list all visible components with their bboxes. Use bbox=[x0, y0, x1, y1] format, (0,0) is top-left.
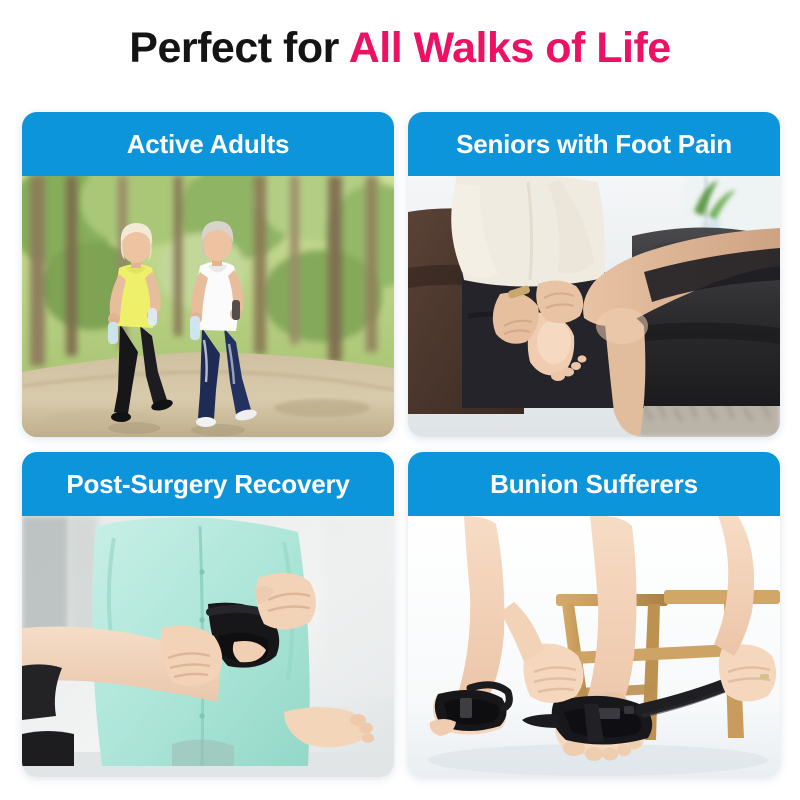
card-title-active-adults: Active Adults bbox=[127, 129, 290, 160]
card-header-bar: Seniors with Foot Pain bbox=[408, 112, 780, 176]
card-photo-seniors-with-foot-pain: A person in a cream sweater seated on a … bbox=[408, 176, 780, 437]
audience-card-grid: Active Adults Two senior women power-wal… bbox=[22, 112, 780, 777]
scene-clinician-fitting-brace bbox=[22, 516, 394, 777]
audience-card-bunion-sufferers[interactable]: Bunion Sufferers A person seated on a li… bbox=[408, 452, 780, 777]
infographic-page: Perfect for All Walks of Life Active Adu… bbox=[0, 0, 800, 800]
page-title: Perfect for All Walks of Life bbox=[0, 24, 800, 72]
card-title-bunion-sufferers: Bunion Sufferers bbox=[490, 469, 698, 500]
card-header-bar: Post-Surgery Recovery bbox=[22, 452, 394, 516]
audience-card-active-adults[interactable]: Active Adults Two senior women power-wal… bbox=[22, 112, 394, 437]
card-title-post-surgery-recovery: Post-Surgery Recovery bbox=[66, 469, 349, 500]
page-title-accent-text: All Walks of Life bbox=[349, 24, 671, 72]
scene-forest-walk bbox=[22, 176, 394, 437]
scene-bunion-brace-fitting bbox=[408, 516, 780, 777]
card-header-bar: Active Adults bbox=[22, 112, 394, 176]
card-photo-bunion-sufferers: A person seated on a light wooden stool … bbox=[408, 516, 780, 777]
audience-card-seniors-with-foot-pain[interactable]: Seniors with Foot Pain A person in a cre… bbox=[408, 112, 780, 437]
card-photo-active-adults: Two senior women power-walking together … bbox=[22, 176, 394, 437]
card-header-bar: Bunion Sufferers bbox=[408, 452, 780, 516]
scene-foot-massage-sofa bbox=[408, 176, 780, 437]
page-title-dark-text: Perfect for bbox=[129, 24, 348, 72]
audience-card-post-surgery-recovery[interactable]: Post-Surgery Recovery A clinician in a m… bbox=[22, 452, 394, 777]
card-title-seniors-with-foot-pain: Seniors with Foot Pain bbox=[456, 129, 732, 160]
card-photo-post-surgery-recovery: A clinician in a mint green scrub top fi… bbox=[22, 516, 394, 777]
